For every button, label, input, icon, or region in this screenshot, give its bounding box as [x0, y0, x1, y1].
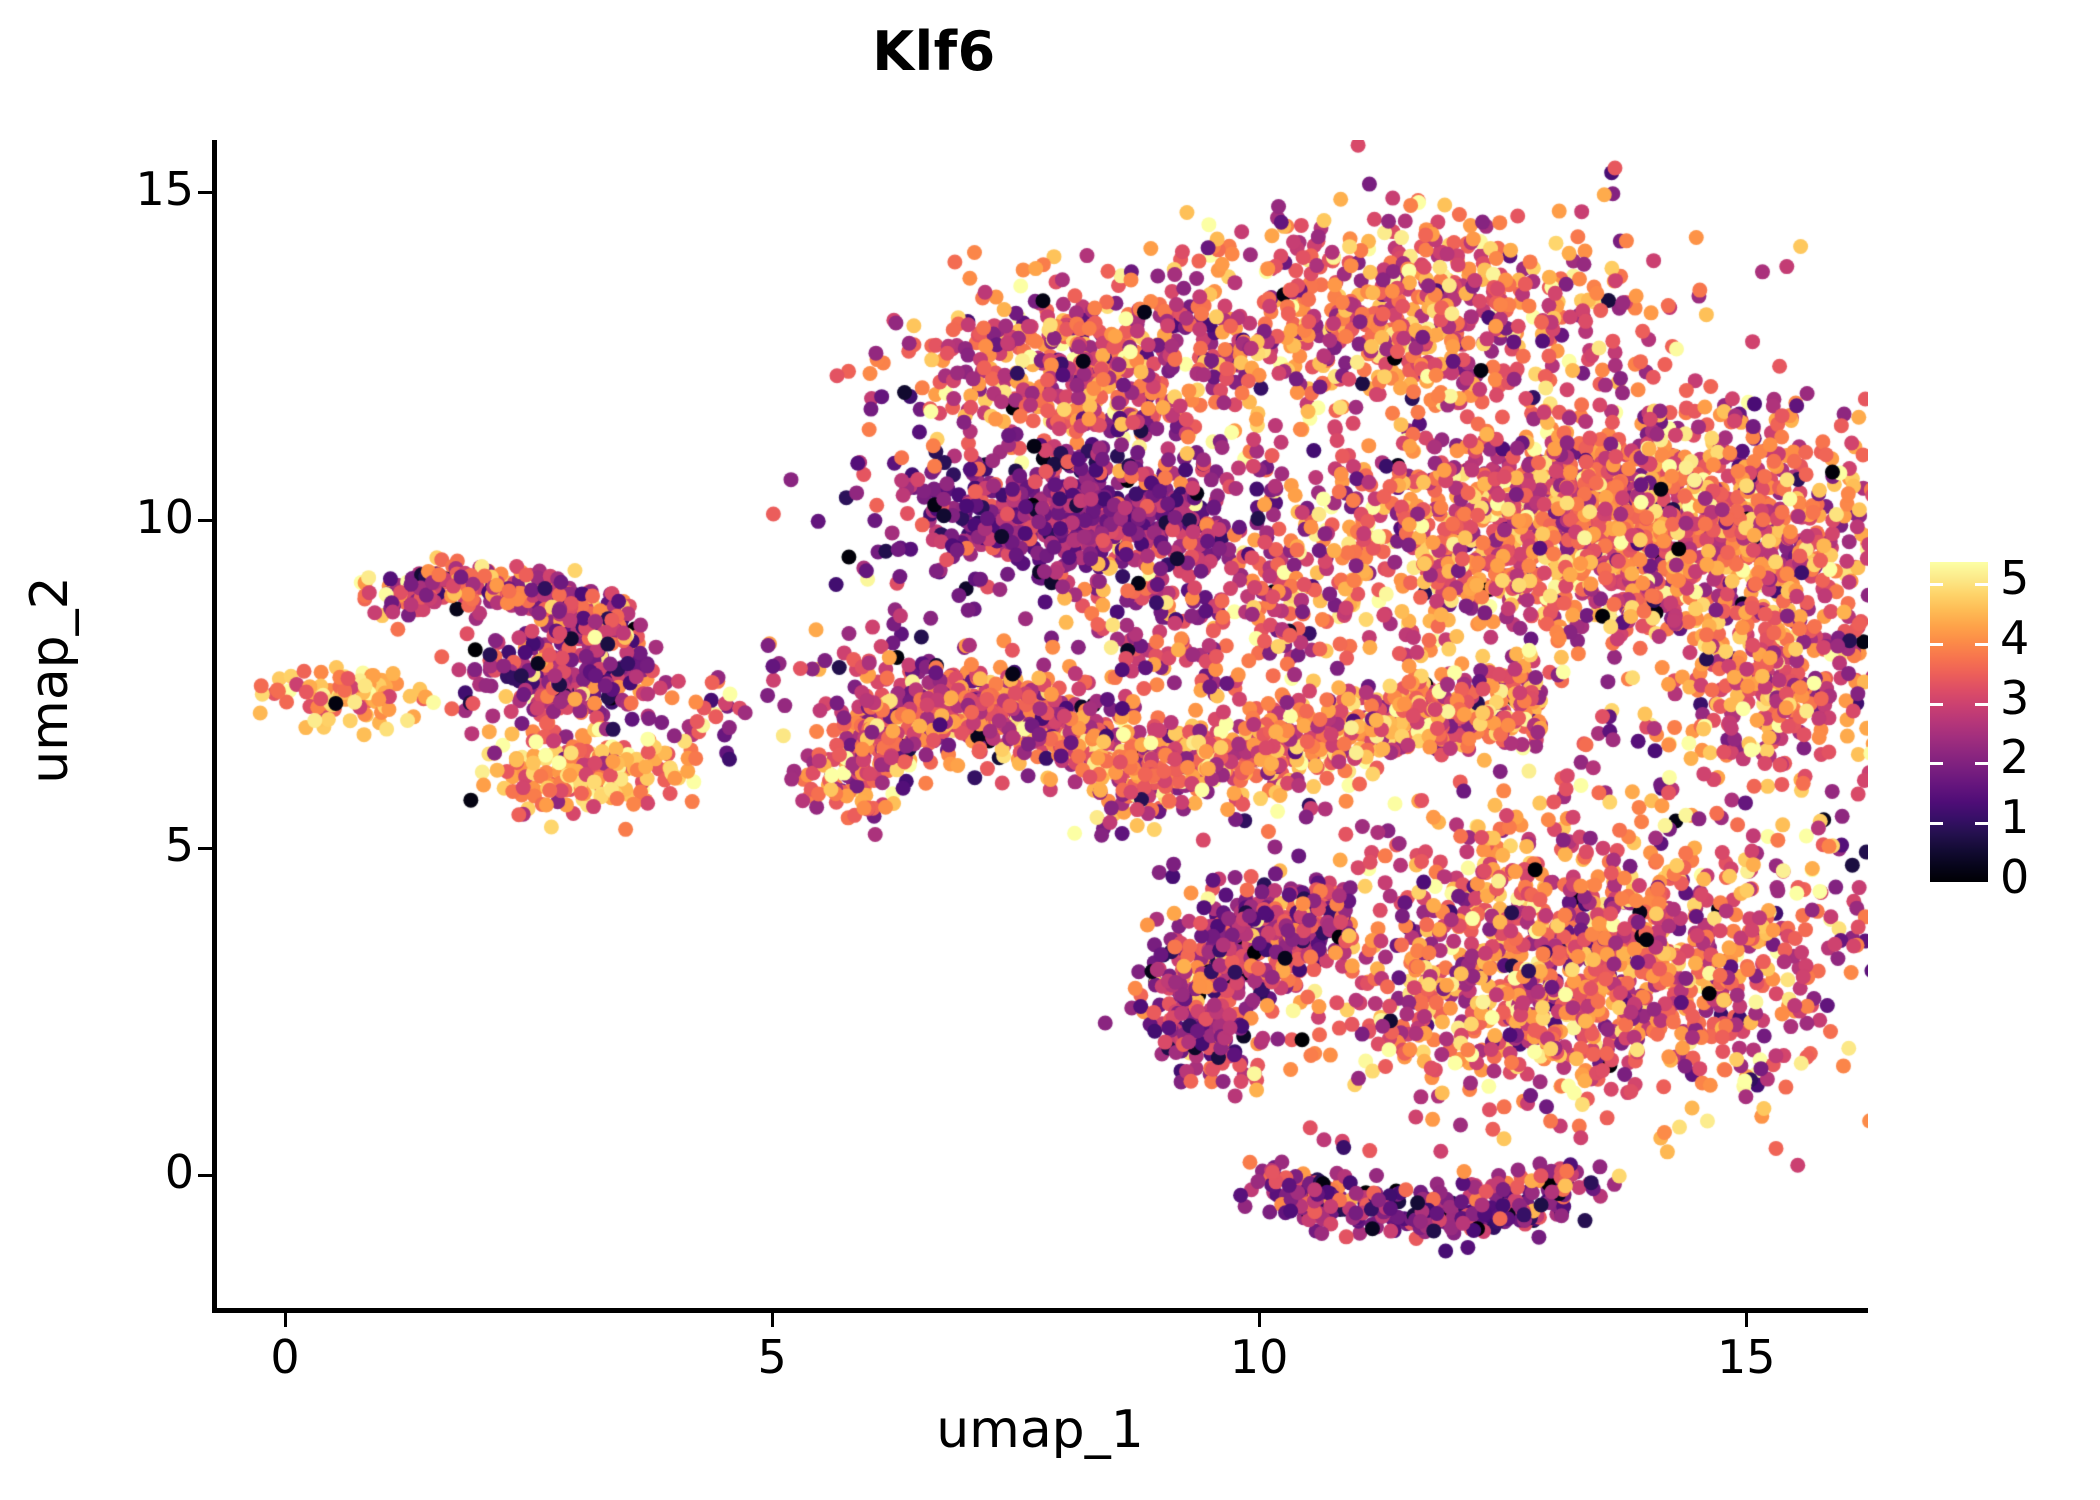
- y-tick-label: 15: [0, 162, 194, 216]
- y-tick-mark: [198, 847, 212, 850]
- colorbar-tick-mark: [1930, 703, 1943, 706]
- x-axis-label: umap_1: [212, 1400, 1868, 1460]
- y-tick-label: 0: [0, 1145, 194, 1199]
- x-tick-mark: [284, 1313, 287, 1327]
- y-tick-mark: [198, 191, 212, 194]
- colorbar-gradient: [1930, 562, 1988, 882]
- colorbar-tick-label: 2: [2000, 734, 2029, 780]
- x-tick-label: 0: [215, 1330, 355, 1384]
- colorbar-tick-label: 4: [2000, 615, 2029, 661]
- plot-axes: [212, 140, 1868, 1313]
- umap-feature-plot-figure: Klf6 051015 051015 umap_1 umap_2 012345: [0, 0, 2100, 1500]
- colorbar-tick-label: 5: [2000, 555, 2029, 601]
- colorbar-tick-mark: [1975, 822, 1988, 825]
- x-tick-mark: [1258, 1313, 1261, 1327]
- colorbar-tick-label: 3: [2000, 675, 2029, 721]
- x-tick-mark: [771, 1313, 774, 1327]
- colorbar-tick-mark: [1930, 643, 1943, 646]
- x-tick-label: 10: [1189, 1330, 1329, 1384]
- colorbar-tick-mark: [1975, 643, 1988, 646]
- colorbar-tick-mark: [1975, 703, 1988, 706]
- colorbar-tick-mark: [1975, 762, 1988, 765]
- page-title: Klf6: [0, 20, 1868, 83]
- colorbar-tick-mark: [1930, 822, 1943, 825]
- colorbar-tick-label: 1: [2000, 794, 2029, 840]
- y-axis-label: umap_2: [20, 330, 80, 1030]
- colorbar-tick-mark: [1975, 583, 1988, 586]
- axis-spine-left: [212, 140, 217, 1313]
- colorbar-tick-mark: [1930, 762, 1943, 765]
- y-tick-mark: [198, 519, 212, 522]
- x-tick-mark: [1745, 1313, 1748, 1327]
- colorbar-tick-label: 0: [2000, 854, 2029, 900]
- axis-spine-bottom: [212, 1308, 1868, 1313]
- x-tick-label: 15: [1676, 1330, 1816, 1384]
- colorbar-tick-mark: [1930, 583, 1943, 586]
- x-tick-label: 5: [702, 1330, 842, 1384]
- y-tick-mark: [198, 1174, 212, 1177]
